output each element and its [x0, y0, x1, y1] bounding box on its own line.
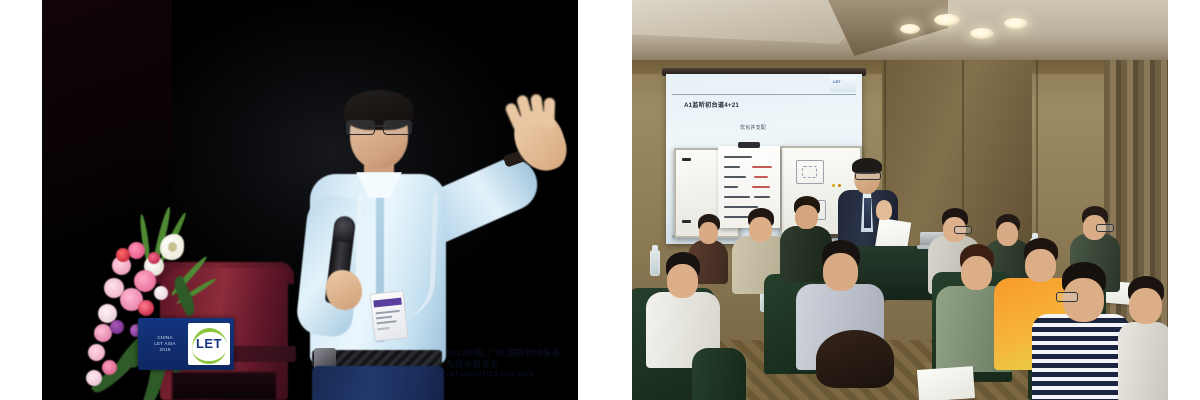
speaker-trousers: [312, 366, 444, 400]
keynote-stage-photo: CHINA LET ASIA 2019 LET 2019中国(广州)国际物流装备…: [42, 0, 578, 400]
conference-badge: [370, 290, 409, 341]
audience-member: [692, 330, 746, 400]
ceiling-light: [970, 28, 994, 39]
let-sponsor-logo: CHINA LET ASIA 2019 LET: [138, 318, 234, 370]
flipchart-clip: [738, 142, 760, 148]
eyeglasses-icon: [346, 120, 412, 133]
stage-drape: [42, 0, 172, 240]
audience-member: [808, 330, 902, 400]
training-room-photo: LET A1监听初台道4+21 优化并支配 18% 测定 分析·研究·改善·验证…: [632, 0, 1168, 400]
slide-title: A1监听初台道4+21: [684, 100, 739, 109]
event-watermark: 2019中国(广州)国际物流装备 与技术展览会 LET-LOGISTICS AS…: [446, 348, 578, 380]
slide-corner-logo: LET: [830, 76, 856, 92]
photo-collage: CHINA LET ASIA 2019 LET 2019中国(广州)国际物流装备…: [0, 0, 1200, 400]
handout-paper: [917, 366, 975, 400]
watermark-line-2: 与技术展览会: [446, 359, 578, 370]
ceiling-light: [934, 14, 960, 26]
seminar-room: LET A1监听初台道4+21 优化并支配 18% 测定 分析·研究·改善·验证…: [632, 0, 1168, 400]
let-logo-mark: LET: [188, 323, 230, 365]
floral-arrangement: [82, 212, 236, 400]
presenter-tie: [864, 198, 871, 228]
watermark-line-3: LET-LOGISTICS ASIA 2019: [446, 371, 578, 380]
presenter-eyeglasses-icon: [855, 172, 881, 180]
ceiling-light: [900, 24, 920, 34]
let-wordmark: LET: [188, 336, 230, 351]
presenter-hand: [876, 200, 892, 220]
audience-member-striped: [1032, 262, 1130, 400]
ceiling-light: [1004, 18, 1028, 29]
slide-rule: [672, 94, 856, 95]
speaker-mic-hand: [326, 270, 362, 310]
slide-body-line: 优化并支配: [740, 124, 766, 131]
let-logo-side-text: CHINA LET ASIA 2019: [138, 335, 188, 354]
watermark-line-1: 2019中国(广州)国际物流装备: [446, 348, 578, 359]
audience-member: [1118, 276, 1168, 400]
